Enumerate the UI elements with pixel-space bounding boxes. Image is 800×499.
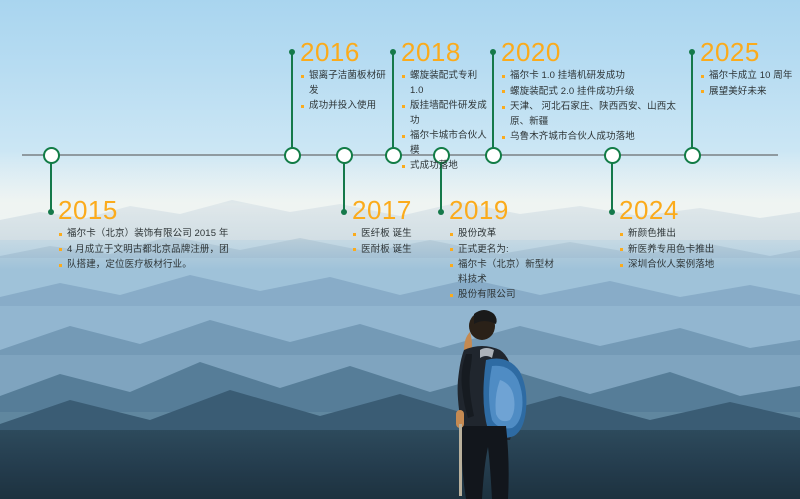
foreground-ridge — [0, 430, 800, 499]
bullet-item: 正式更名为: — [449, 243, 559, 258]
entry-2020-bullets: 福尔卡 1.0 挂墙机研发成功 螺旋装配式 2.0 挂件成功升级 天津、 河北石… — [501, 69, 681, 145]
bullet-item: 股份改革 — [449, 227, 559, 242]
year-label-2024: 2024 — [619, 196, 744, 224]
dot-2019 — [438, 209, 444, 215]
bullet-item: 银离子洁菌板材研发 — [300, 69, 395, 98]
stem-2017 — [343, 162, 345, 212]
entry-2017-bullets: 医纤板 诞生 医耐板 诞生 — [352, 227, 432, 257]
node-2015[interactable] — [43, 147, 60, 164]
bullet-item: 螺旋装配式专利 1.0 — [401, 69, 493, 98]
year-label-2017: 2017 — [352, 196, 432, 224]
entry-2017: 2017 医纤板 诞生 医耐板 诞生 — [352, 196, 432, 258]
node-2017[interactable] — [336, 147, 353, 164]
entry-2015: 2015 福尔卡（北京）装饰有限公司 2015 年 4 月成立于文明古都北京品牌… — [58, 196, 233, 274]
bullet-item: 螺旋装配式 2.0 挂件成功升级 — [501, 85, 681, 100]
bullet-item: 新颜色推出 — [619, 227, 744, 242]
entry-2018: 2018 螺旋装配式专利 1.0 版挂墙配件研发成功 福尔卡城市合伙人模 式成功… — [401, 38, 493, 175]
node-2024[interactable] — [604, 147, 621, 164]
dot-2017 — [341, 209, 347, 215]
year-label-2018: 2018 — [401, 38, 493, 66]
stem-2024 — [611, 162, 613, 212]
node-2016[interactable] — [284, 147, 301, 164]
hiker-figure — [430, 306, 550, 499]
bullet-item: 福尔卡城市合伙人模 — [401, 129, 493, 158]
bullet-continuation: 成功并投入使用 — [300, 99, 395, 114]
year-label-2025: 2025 — [700, 38, 795, 66]
timeline-infographic: 2016 银离子洁菌板材研发 成功并投入使用 2018 螺旋装配式专利 1.0 … — [0, 0, 800, 499]
dot-2024 — [609, 209, 615, 215]
entry-2015-bullets: 福尔卡（北京）装饰有限公司 2015 年 4 月成立于文明古都北京品牌注册，团 … — [58, 227, 233, 273]
entry-2025: 2025 福尔卡成立 10 周年 展望美好未来 — [700, 38, 795, 100]
bullet-item: 福尔卡成立 10 周年 — [700, 69, 795, 84]
bullet-item: 天津、 河北石家庄、陕西西安、山西太原、新疆 — [501, 100, 681, 129]
bullet-item: 医耐板 诞生 — [352, 243, 432, 258]
entry-2016-bullets: 银离子洁菌板材研发 成功并投入使用 — [300, 69, 395, 114]
bullet-item: 展望美好未来 — [700, 85, 795, 100]
dot-2015 — [48, 209, 54, 215]
year-label-2016: 2016 — [300, 38, 395, 66]
year-label-2020: 2020 — [501, 38, 681, 66]
dot-2016 — [289, 49, 295, 55]
entry-2024: 2024 新颜色推出 新医养专用色卡推出 深圳合伙人案例落地 — [619, 196, 744, 274]
bullet-item: 福尔卡（北京）装饰有限公司 2015 年 — [58, 227, 233, 242]
dot-2025 — [689, 49, 695, 55]
bullet-continuation: 版挂墙配件研发成功 — [401, 99, 493, 128]
entry-2024-bullets: 新颜色推出 新医养专用色卡推出 深圳合伙人案例落地 — [619, 227, 744, 273]
bullet-continuation: 4 月成立于文明古都北京品牌注册，团 — [58, 243, 233, 258]
bullet-continuation: 福尔卡（北京）新型材料技术 — [449, 258, 559, 287]
stem-2016 — [291, 52, 293, 155]
stem-2025 — [691, 52, 693, 155]
bullet-item: 新医养专用色卡推出 — [619, 243, 744, 258]
entry-2019: 2019 股份改革 正式更名为: 福尔卡（北京）新型材料技术 股份有限公司 — [449, 196, 559, 304]
entry-2016: 2016 银离子洁菌板材研发 成功并投入使用 — [300, 38, 395, 115]
entry-2020: 2020 福尔卡 1.0 挂墙机研发成功 螺旋装配式 2.0 挂件成功升级 天津… — [501, 38, 681, 146]
bullet-continuation: 股份有限公司 — [449, 288, 559, 303]
year-label-2019: 2019 — [449, 196, 559, 224]
stem-2015 — [50, 162, 52, 212]
bullet-item: 深圳合伙人案例落地 — [619, 258, 744, 273]
bullet-item: 福尔卡 1.0 挂墙机研发成功 — [501, 69, 681, 84]
entry-2025-bullets: 福尔卡成立 10 周年 展望美好未来 — [700, 69, 795, 99]
entry-2019-bullets: 股份改革 正式更名为: 福尔卡（北京）新型材料技术 股份有限公司 — [449, 227, 559, 303]
bullet-continuation: 式成功落地 — [401, 159, 493, 174]
node-2018[interactable] — [385, 147, 402, 164]
bullet-continuation: 队搭建，定位医疗板材行业。 — [58, 258, 233, 273]
bullet-item: 医纤板 诞生 — [352, 227, 432, 242]
entry-2018-bullets: 螺旋装配式专利 1.0 版挂墙配件研发成功 福尔卡城市合伙人模 式成功落地 — [401, 69, 493, 174]
node-2025[interactable] — [684, 147, 701, 164]
year-label-2015: 2015 — [58, 196, 233, 224]
bullet-continuation: 乌鲁木齐城市合伙人成功落地 — [501, 130, 681, 145]
